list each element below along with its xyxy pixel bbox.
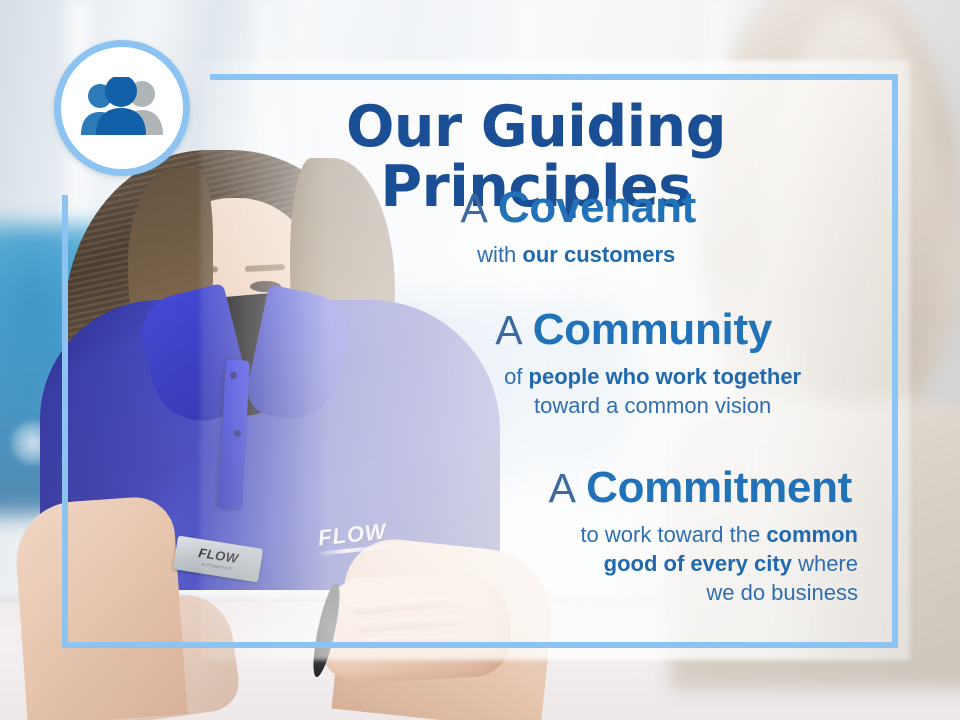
- description-plain: of: [504, 364, 528, 389]
- description-bold: good of every city: [604, 551, 792, 576]
- people-badge: [54, 40, 190, 176]
- description-line: to work toward the common: [549, 520, 858, 549]
- guiding-principles-graphic: FLOW AUTOMOTIVE FLOW: [0, 0, 960, 720]
- description-line: with our customers: [477, 242, 675, 267]
- principle-heading: A Covenant: [460, 184, 876, 232]
- principle-heading: A Commitment: [549, 464, 876, 512]
- description-plain: with: [477, 242, 522, 267]
- principle-heading: A Community: [495, 306, 876, 354]
- principle-description: to work toward the common good of every …: [549, 520, 876, 608]
- principle-community: A Community of people who work together …: [495, 306, 876, 420]
- principle-lead-word: A: [549, 465, 586, 511]
- principle-key-word: Community: [533, 305, 772, 354]
- principle-description: with our customers: [460, 240, 876, 269]
- description-line: we do business: [549, 578, 858, 607]
- principle-covenant: A Covenant with our customers: [460, 184, 876, 269]
- principle-key-word: Commitment: [586, 463, 852, 512]
- description-line: toward a common vision: [495, 391, 810, 420]
- principle-description: of people who work together toward a com…: [495, 362, 876, 421]
- principle-commitment: A Commitment to work toward the common g…: [549, 464, 876, 607]
- description-bold: people who work together: [529, 364, 802, 389]
- description-bold: common: [766, 522, 858, 547]
- description-bold: our customers: [522, 242, 675, 267]
- description-plain: to work toward the: [580, 522, 766, 547]
- principle-lead-word: A: [495, 307, 532, 353]
- people-group-icon: [76, 77, 168, 139]
- text-content: Our Guiding Principles A Covenant with o…: [200, 74, 890, 648]
- principle-lead-word: A: [460, 185, 497, 231]
- description-plain: where: [792, 551, 858, 576]
- description-line: good of every city where: [549, 549, 858, 578]
- description-line: of people who work together: [495, 362, 810, 391]
- principle-key-word: Covenant: [498, 183, 696, 232]
- employee-arm-left: [13, 495, 188, 720]
